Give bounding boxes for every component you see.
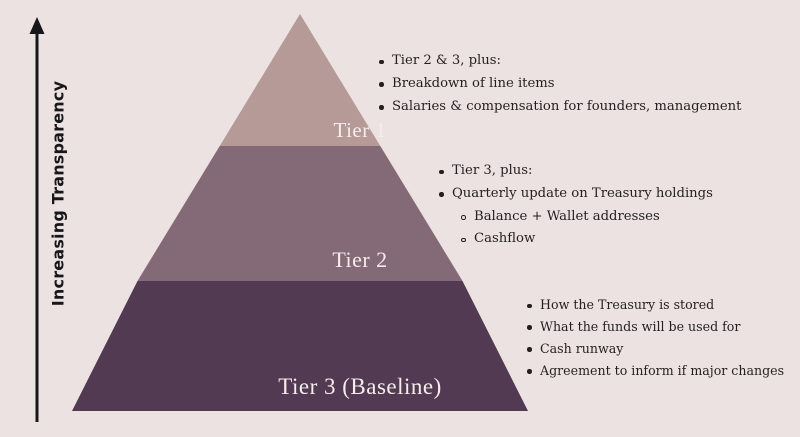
list-item: How the Treasury is stored	[524, 294, 784, 316]
pyramid-tier-3	[72, 281, 528, 411]
diagram-canvas: Increasing Transparency Tier 1 Tier 2 Ti…	[0, 0, 800, 437]
tier-2-note-list: Tier 3, plus: Quarterly update on Treasu…	[436, 160, 713, 206]
list-item: Balance + Wallet addresses	[458, 206, 713, 229]
note-text: What the funds will be used for	[540, 319, 740, 334]
tier-2-note-sublist: Balance + Wallet addresses Cashflow	[458, 206, 713, 252]
pyramid-tier-1	[220, 14, 381, 146]
list-item: Tier 3, plus:	[436, 160, 713, 183]
tier-3-note-list: How the Treasury is stored What the fund…	[524, 294, 784, 382]
note-text: Tier 2 & 3, plus:	[392, 53, 501, 68]
note-text: Cashflow	[474, 231, 535, 246]
note-text: Cash runway	[540, 341, 623, 356]
list-item: Quarterly update on Treasury holdings	[436, 183, 713, 206]
tier-3-notes: How the Treasury is stored What the fund…	[524, 294, 784, 382]
list-item: Cashflow	[458, 228, 713, 251]
note-text: Quarterly update on Treasury holdings	[452, 186, 713, 201]
list-item: Breakdown of line items	[376, 73, 741, 96]
note-text: Tier 3, plus:	[452, 163, 532, 178]
tier-1-notes: Tier 2 & 3, plus: Breakdown of line item…	[376, 50, 741, 118]
list-item: Tier 2 & 3, plus:	[376, 50, 741, 73]
list-item: Agreement to inform if major changes	[524, 360, 784, 382]
pyramid-tier-2	[138, 146, 463, 281]
note-text: Salaries & compensation for founders, ma…	[392, 99, 741, 114]
tier-1-note-list: Tier 2 & 3, plus: Breakdown of line item…	[376, 50, 741, 118]
list-item: What the funds will be used for	[524, 316, 784, 338]
note-text: How the Treasury is stored	[540, 297, 714, 312]
list-item: Salaries & compensation for founders, ma…	[376, 96, 741, 119]
note-text: Breakdown of line items	[392, 76, 555, 91]
tier-2-notes: Tier 3, plus: Quarterly update on Treasu…	[436, 160, 713, 251]
note-text: Agreement to inform if major changes	[540, 363, 784, 378]
note-text: Balance + Wallet addresses	[474, 209, 660, 224]
list-item: Cash runway	[524, 338, 784, 360]
